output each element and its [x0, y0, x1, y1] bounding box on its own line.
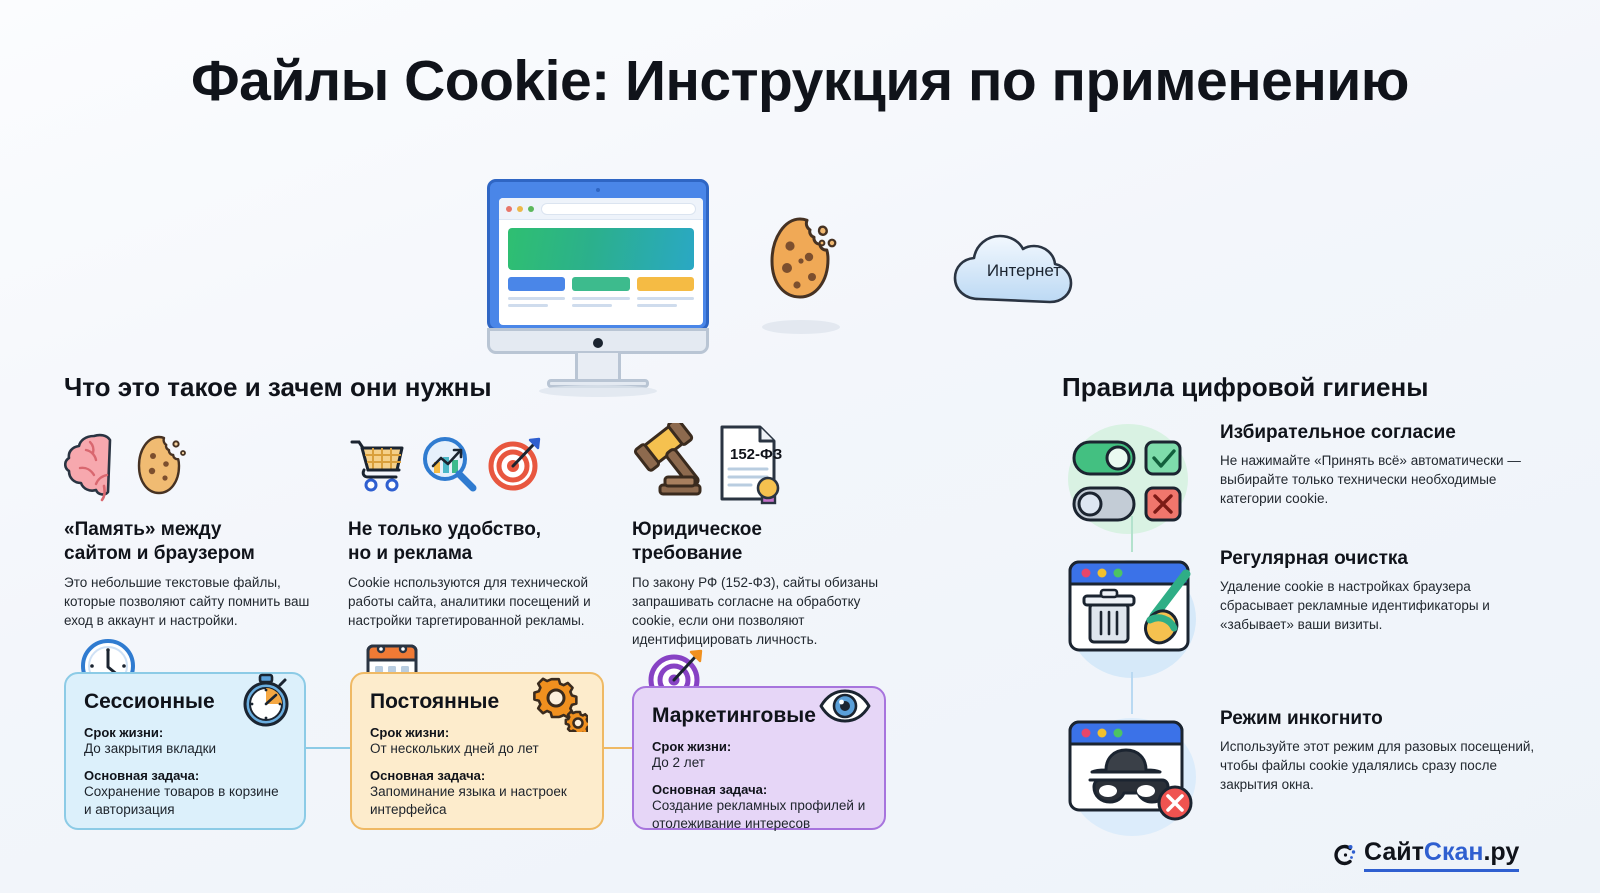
text-line — [637, 297, 694, 300]
rule-connector-1 — [1131, 516, 1133, 552]
rule-incognito-mode-body: Используйте этот режим для разовых посещ… — [1220, 737, 1542, 794]
rule-incognito-mode: Режим инкогнито Используйте этот режим д… — [1062, 708, 1542, 794]
feature-memory-title-line1: «Память» между — [64, 519, 221, 540]
monitor-chin — [487, 328, 709, 354]
cookie-card-session-lifetime-value: До закрытия вкладки — [84, 740, 286, 758]
traffic-light-red-icon — [506, 206, 512, 212]
hero-illustration: Интернет — [0, 165, 1600, 375]
text-line — [508, 297, 565, 300]
page-card-yellow — [637, 277, 694, 291]
gears-icon — [532, 676, 588, 732]
feature-advertising-title-line1: Не только удобство, — [348, 519, 541, 540]
rule-selective-consent: Избирательное согласие Не нажимайте «При… — [1062, 422, 1542, 508]
cookie-card-marketing-task-label: Основная задача: — [652, 782, 866, 797]
feature-advertising: Не только удобство, но и реклама Cookie … — [348, 418, 618, 630]
saitscan-logo-icon — [1332, 843, 1356, 867]
page-hero-banner — [508, 228, 694, 270]
feature-memory-body: Это небольшие текстовые файлы, которые п… — [64, 573, 334, 630]
page-text-lines — [508, 297, 694, 311]
law-document-icon: 152-ФЗ — [714, 421, 782, 507]
page-card-blue — [508, 277, 565, 291]
feature-memory: «Память» между сайтом и браузером Это не… — [64, 418, 334, 630]
browser-titlebar — [499, 198, 703, 220]
stopwatch-icon — [238, 672, 294, 728]
feature-memory-icons — [64, 418, 334, 510]
cookie-card-persistent-lifetime-value: От нескольких дней до лет — [370, 740, 584, 758]
feature-legal-body: По закону РФ (152-ФЗ), сайты обизаны зап… — [632, 573, 902, 650]
gavel-icon — [632, 423, 710, 505]
magnifier-chart-icon — [418, 433, 480, 495]
rule-selective-consent-text: Избирательное согласие Не нажимайте «При… — [1220, 422, 1542, 508]
feature-memory-title: «Память» между сайтом и браузером — [64, 518, 334, 566]
cookie-card-persistent-task-value: Запоминание языка и настроек интерфейса — [370, 783, 584, 819]
text-line — [508, 304, 548, 307]
cloud-label: Интернет — [943, 261, 1105, 281]
shopping-cart-icon — [348, 435, 408, 493]
right-section-heading: Правила цифровой гигиены — [1062, 372, 1428, 403]
cookie-card-session-task-label: Основная задача: — [84, 768, 286, 783]
rule-selective-consent-title: Избирательное согласие — [1220, 422, 1542, 444]
monitor-frame — [487, 179, 709, 331]
monitor-shadow — [539, 385, 657, 397]
footer-logo[interactable]: СайтСкан.ру — [1332, 838, 1552, 874]
text-line — [572, 304, 612, 307]
monitor-browser-icon — [487, 179, 709, 379]
feature-legal-title: Юридическое требование — [632, 518, 902, 566]
monitor-stand-neck — [575, 353, 621, 381]
footer-logo-suffix: .ру — [1483, 838, 1519, 866]
monitor-screen — [499, 198, 703, 325]
cookie-card-marketing-lifetime-value: До 2 лет — [652, 754, 866, 772]
card-connector-session-persistent — [300, 747, 356, 749]
page-card-row — [508, 277, 694, 291]
feature-legal-title-line2: требование — [632, 543, 742, 564]
eye-icon — [818, 686, 872, 726]
cookie-card-session-task-value: Сохранение товаров в корзине и авторизац… — [84, 783, 286, 819]
rule-regular-cleanup-body: Удаление cookie в настройках браузера сб… — [1220, 577, 1542, 634]
footer-logo-black: Сайт — [1364, 838, 1424, 866]
cookie-icon — [128, 433, 190, 495]
feature-legal: 152-ФЗ Юридическое требование По закону … — [632, 418, 902, 649]
target-icon — [486, 435, 544, 493]
page-title: Файлы Cookie: Инструкция по применению — [0, 48, 1600, 114]
cookie-card-marketing-lifetime-label: Срок жизни: — [652, 739, 866, 754]
rule-incognito-mode-text: Режим инкогнито Используйте этот режим д… — [1220, 708, 1542, 794]
cookie-card-marketing-task-value: Создание рекламных профилей и отолеживан… — [652, 797, 866, 833]
monitor-camera-dot — [596, 188, 600, 192]
browser-url-bar — [541, 203, 696, 215]
rule-regular-cleanup-title: Регулярная очистка — [1220, 548, 1542, 570]
feature-advertising-title-line2: но и реклама — [348, 543, 472, 564]
infographic-page: Файлы Cookie: Инструкция по применению — [0, 0, 1600, 893]
page-card-green — [572, 277, 629, 291]
trash-broom-browser-icon — [1062, 548, 1202, 666]
feature-advertising-icons — [348, 418, 618, 510]
monitor-power-dot — [593, 338, 603, 348]
feature-advertising-body: Cookie нспользуются для технической рабо… — [348, 573, 618, 630]
law-document-label: 152-ФЗ — [730, 446, 782, 463]
rule-regular-cleanup: Регулярная очистка Удаление cookie в нас… — [1062, 548, 1542, 634]
rule-selective-consent-body: Не нажимайте «Принять всё» автоматически… — [1220, 451, 1542, 508]
internet-cloud-icon: Интернет — [943, 215, 1105, 307]
text-line — [637, 304, 677, 307]
text-line-group — [637, 297, 694, 311]
text-line-group — [572, 297, 629, 311]
rule-incognito-mode-title: Режим инкогнито — [1220, 708, 1542, 730]
incognito-browser-icon — [1062, 708, 1202, 826]
feature-legal-title-line1: Юридическое — [632, 519, 762, 540]
traffic-light-green-icon — [528, 206, 534, 212]
text-line — [572, 297, 629, 300]
feature-legal-icons: 152-ФЗ — [632, 418, 902, 510]
footer-logo-blue: Скан — [1424, 838, 1484, 866]
cookie-shadow — [762, 320, 840, 334]
cookie-icon — [752, 213, 848, 309]
footer-logo-text: СайтСкан.ру — [1364, 838, 1519, 872]
traffic-light-yellow-icon — [517, 206, 523, 212]
feature-memory-title-line2: сайтом и браузером — [64, 543, 255, 564]
feature-advertising-title: Не только удобство, но и реклама — [348, 518, 618, 566]
rule-regular-cleanup-text: Регулярная очистка Удаление cookie в нас… — [1220, 548, 1542, 634]
text-line-group — [508, 297, 565, 311]
cookie-card-persistent-task-label: Основная задача: — [370, 768, 584, 783]
left-section-heading: Что это такое и зачем они нужны — [64, 372, 492, 403]
